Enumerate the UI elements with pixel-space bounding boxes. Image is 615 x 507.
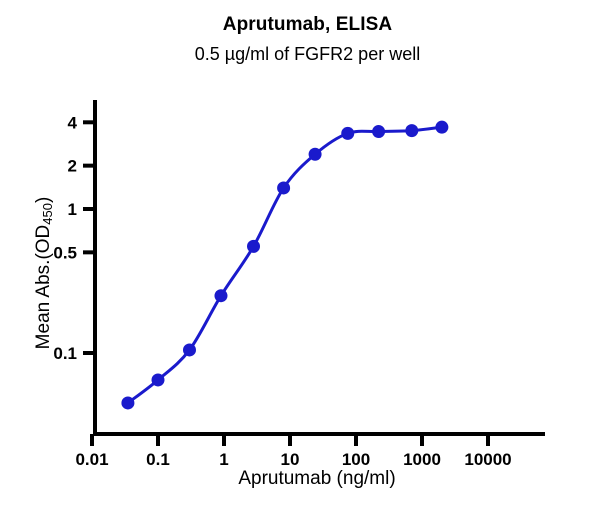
x-tick-label-100: 100 (342, 450, 370, 469)
y-tick-label-1: 1 (68, 200, 77, 219)
data-point (309, 148, 322, 161)
x-tick-label-10000: 10000 (464, 450, 511, 469)
data-point (183, 343, 196, 356)
data-points (121, 121, 448, 410)
plot-area: 0.10.5124 0.010.1110100100010000 (0, 0, 615, 507)
data-point (341, 127, 354, 140)
y-tick-label-2: 2 (68, 157, 77, 176)
y-tick-label-0.5: 0.5 (53, 243, 77, 262)
data-point (405, 124, 418, 137)
data-point (152, 373, 165, 386)
y-tick-label-4: 4 (68, 113, 78, 132)
x-tick-label-0.01: 0.01 (75, 450, 108, 469)
chart-figure: Aprutumab, ELISA 0.5 µg/ml of FGFR2 per … (0, 0, 615, 507)
x-tick-label-1: 1 (219, 450, 228, 469)
x-tick-label-0.1: 0.1 (146, 450, 170, 469)
data-point (247, 240, 260, 253)
x-tick-label-10: 10 (281, 450, 300, 469)
data-point (435, 121, 448, 134)
x-axis-ticks: 0.010.1110100100010000 (75, 434, 511, 469)
data-curve (128, 127, 442, 403)
fit-curve (128, 127, 442, 403)
x-tick-label-1000: 1000 (403, 450, 441, 469)
data-point (277, 181, 290, 194)
y-tick-label-0.1: 0.1 (53, 344, 77, 363)
data-point (372, 125, 385, 138)
data-point (214, 289, 227, 302)
data-point (121, 396, 134, 409)
y-axis-ticks: 0.10.5124 (53, 113, 95, 363)
